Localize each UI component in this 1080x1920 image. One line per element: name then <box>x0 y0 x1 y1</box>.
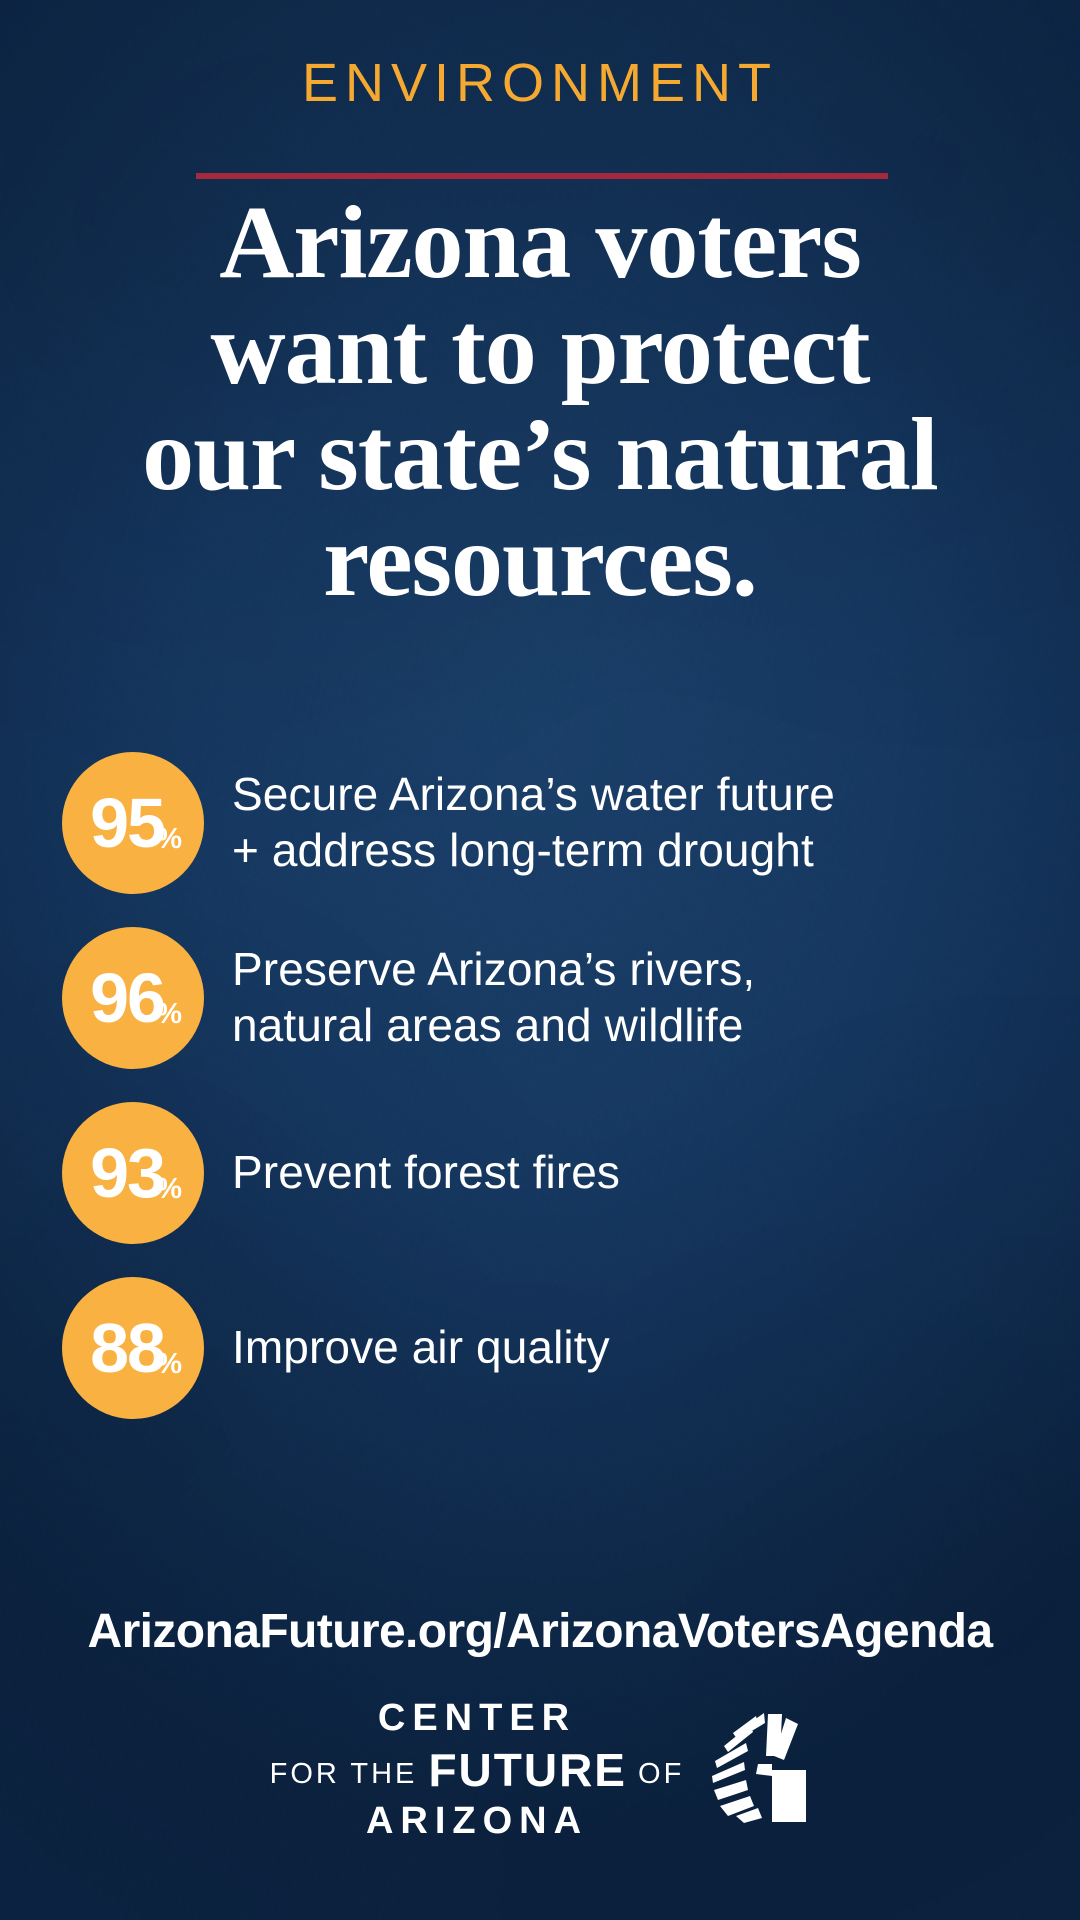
percent-sign: % <box>156 1350 182 1379</box>
stat-value: 96 <box>90 963 164 1033</box>
poster-canvas: ENVIRONMENT Arizona voters want to prote… <box>0 0 1080 1920</box>
category-eyebrow: ENVIRONMENT <box>0 56 1080 110</box>
stat-label: Prevent forest fires <box>232 1145 620 1201</box>
stat-percent-badge: 95 % <box>62 752 204 894</box>
headline-line-1: Arizona voters <box>55 190 1025 296</box>
percent-sign: % <box>156 1175 182 1204</box>
stat-label-line: natural areas and wildlife <box>232 998 755 1054</box>
page-title: Arizona voters want to protect our state… <box>55 190 1025 614</box>
organization-logo: CENTER FOR THE FUTURE OF ARIZONA <box>0 1698 1080 1838</box>
stat-label: Improve air quality <box>232 1320 610 1376</box>
stat-value: 88 <box>90 1313 164 1383</box>
website-url[interactable]: ArizonaFuture.org/ArizonaVotersAgenda <box>0 1608 1080 1656</box>
stat-label-line: Preserve Arizona’s rivers, <box>232 942 755 998</box>
headline-line-2: want to protect <box>55 296 1025 402</box>
logo-wordmark: CENTER FOR THE FUTURE OF ARIZONA <box>270 1697 685 1840</box>
stat-label-line: Secure Arizona’s water future <box>232 767 835 823</box>
stat-label-line: Improve air quality <box>232 1320 610 1376</box>
stat-row: 88 % Improve air quality <box>0 1260 1080 1435</box>
stat-value: 93 <box>90 1138 164 1208</box>
stat-label: Preserve Arizona’s rivers, natural areas… <box>232 942 755 1053</box>
stat-list: 95 % Secure Arizona’s water future + add… <box>0 735 1080 1435</box>
percent-sign: % <box>156 1000 182 1029</box>
headline-line-4: resources. <box>55 508 1025 614</box>
stat-label-line: + address long-term drought <box>232 823 835 879</box>
sunburst-logo-mark <box>706 1712 810 1824</box>
stat-percent-badge: 88 % <box>62 1277 204 1419</box>
logo-for-the: FOR THE <box>270 1758 429 1790</box>
logo-line-arizona: ARIZONA <box>270 1802 685 1840</box>
stat-row: 93 % Prevent forest fires <box>0 1085 1080 1260</box>
logo-of: OF <box>627 1758 684 1790</box>
logo-line-for-the-future-of: FOR THE FUTURE OF <box>270 1747 685 1793</box>
logo-line-center: CENTER <box>270 1699 685 1737</box>
stat-label: Secure Arizona’s water future + address … <box>232 767 835 878</box>
stat-label-line: Prevent forest fires <box>232 1145 620 1201</box>
header-divider <box>196 173 888 179</box>
stat-row: 95 % Secure Arizona’s water future + add… <box>0 735 1080 910</box>
stat-percent-badge: 93 % <box>62 1102 204 1244</box>
stat-value: 95 <box>90 788 164 858</box>
stat-percent-badge: 96 % <box>62 927 204 1069</box>
headline-line-3: our state’s natural <box>55 402 1025 508</box>
percent-sign: % <box>156 825 182 854</box>
stat-row: 96 % Preserve Arizona’s rivers, natural … <box>0 910 1080 1085</box>
poster-content: ENVIRONMENT Arizona voters want to prote… <box>0 0 1080 1920</box>
logo-future: FUTURE <box>428 1744 627 1796</box>
